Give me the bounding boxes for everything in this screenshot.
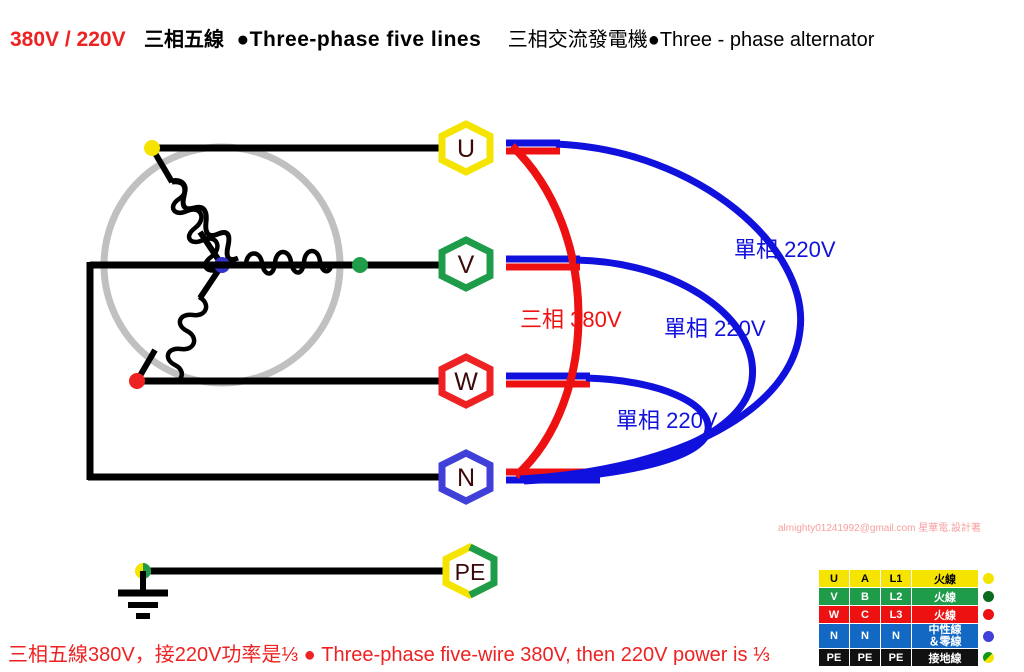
legend-cell-line: L3 [881, 606, 911, 623]
legend-color-dot [983, 591, 994, 602]
label-three-phase-380v: 三相 380V [520, 307, 622, 332]
legend-cell-line: L1 [881, 570, 911, 587]
label-single-phase-220v-bottom: 單相 220V [616, 408, 718, 433]
label-single-phase-220v-middle: 單相 220V [664, 316, 766, 341]
footer-caption: 三相五線380V，接220V功率是⅓ ● Three-phase five-wi… [8, 640, 1018, 670]
terminal-w-label: W [454, 368, 478, 396]
legend-color-dot [983, 609, 994, 620]
legend-row: U A L1 火線 [819, 570, 997, 587]
legend-cell-dot [979, 588, 997, 605]
legend-cell-iec: W [819, 606, 849, 623]
terminal-v[interactable]: V [442, 240, 490, 288]
legend-cell-iec: U [819, 570, 849, 587]
coil-u-loops [171, 180, 220, 270]
legend-cell-dot [979, 570, 997, 587]
legend-cell-iec: V [819, 588, 849, 605]
legend-cell-desc: 火線 [912, 570, 978, 587]
legend-row: V B L2 火線 [819, 588, 997, 605]
terminal-n[interactable]: N [442, 453, 490, 501]
legend-cell-desc: 火線 [912, 588, 978, 605]
legend-cell-alt: C [850, 606, 880, 623]
legend-row: W C L3 火線 [819, 606, 997, 623]
watermark-credit: almighty01241992@gmail.com 星華電.設計著 [778, 519, 981, 534]
legend-cell-dot [979, 606, 997, 623]
terminal-u-label: U [457, 135, 475, 163]
legend-color-dot [983, 573, 994, 584]
single-phase-arc-v [522, 260, 753, 480]
terminal-v-label: V [458, 251, 475, 279]
legend-cell-alt: A [850, 570, 880, 587]
terminal-w[interactable]: W [442, 357, 490, 405]
terminal-pe[interactable]: PE [446, 547, 494, 595]
label-single-phase-220v-top: 單相 220V [734, 237, 836, 262]
node-dot-u [144, 140, 160, 156]
node-dot-w [129, 373, 145, 389]
terminal-n-label: N [457, 464, 475, 492]
node-dot-v [352, 257, 368, 273]
legend-cell-desc: 火線 [912, 606, 978, 623]
legend-cell-line: L2 [881, 588, 911, 605]
terminal-u[interactable]: U [442, 124, 490, 172]
terminal-pe-label: PE [455, 559, 486, 585]
legend-cell-alt: B [850, 588, 880, 605]
